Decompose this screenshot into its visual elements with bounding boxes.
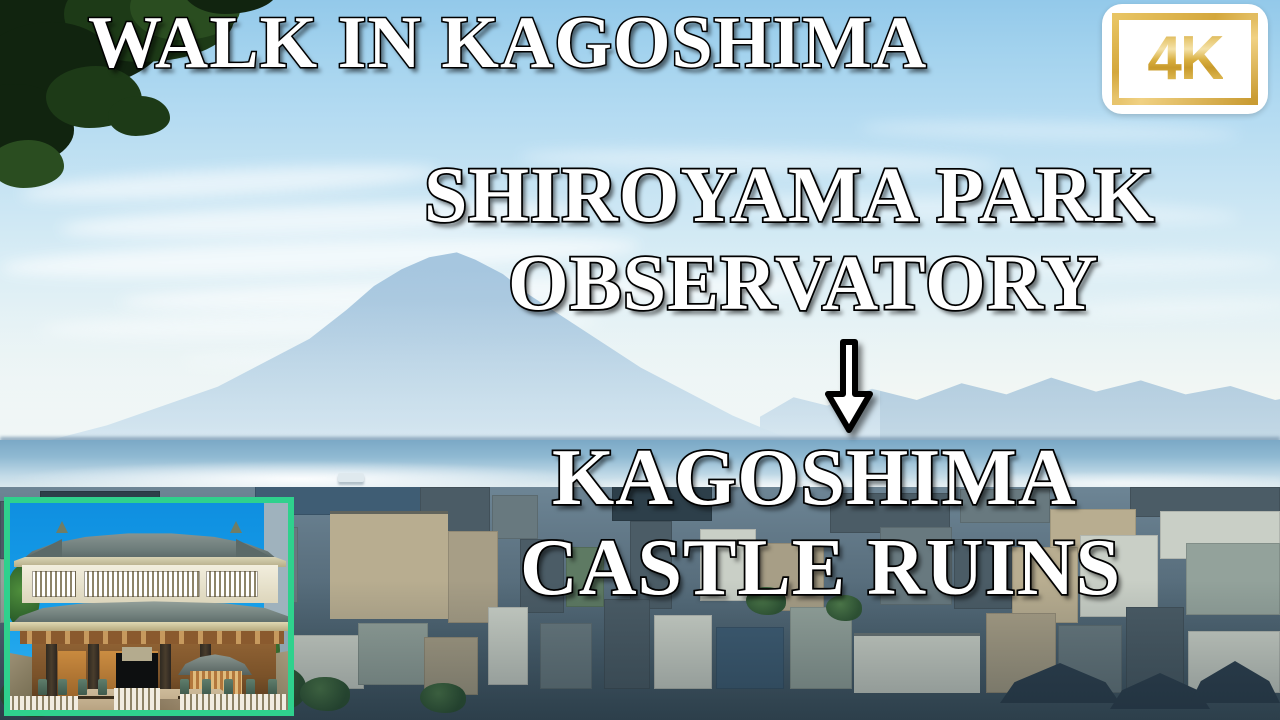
lantern [58, 679, 67, 695]
video-thumbnail: WALK IN KAGOSHIMA SHIROYAMA PARK OBSERVA… [0, 0, 1280, 720]
subtitle-line-1: SHIROYAMA PARK [424, 156, 1155, 234]
tree [420, 683, 466, 713]
lantern [246, 679, 255, 695]
building [540, 623, 592, 689]
wooden-fence [180, 694, 290, 712]
ferry-boat [338, 473, 364, 482]
badge-label: 4K [1147, 28, 1222, 90]
inset-photo-castle-gate [4, 497, 294, 716]
building [790, 607, 852, 689]
gate-entrance-lintel [122, 647, 152, 661]
building [1160, 511, 1280, 559]
destination-line-2: CASTLE RUINS [520, 528, 1121, 608]
temple-roof [1110, 673, 1210, 709]
building [488, 607, 528, 685]
building [1188, 631, 1280, 693]
building [654, 615, 712, 689]
building [986, 613, 1056, 693]
building [420, 487, 490, 539]
lantern [202, 679, 211, 695]
wooden-fence [8, 696, 78, 712]
lantern [224, 679, 233, 695]
building [604, 599, 650, 689]
building [424, 637, 478, 695]
lantern [268, 679, 277, 695]
building [358, 623, 428, 685]
subtitle-line-2: OBSERVATORY [508, 244, 1099, 322]
wooden-fence [114, 688, 160, 710]
main-roof-eave [6, 622, 294, 631]
temple-roof [1190, 661, 1280, 703]
building [1130, 487, 1280, 517]
roof-bracket-row [20, 631, 284, 644]
building [1186, 543, 1280, 615]
temple-roof [1000, 663, 1120, 703]
arrow-down-icon [822, 338, 876, 434]
lantern [38, 679, 47, 695]
tree [300, 677, 350, 711]
quality-badge-4k: 4K [1102, 4, 1268, 114]
lattice-window [32, 571, 76, 597]
building [854, 633, 980, 693]
building [1058, 625, 1122, 693]
lantern [180, 679, 189, 695]
lattice-window [84, 571, 200, 597]
building-large [330, 511, 448, 619]
destination-line-1: KAGOSHIMA [552, 438, 1077, 518]
lantern [78, 679, 87, 695]
lattice-window [206, 571, 258, 597]
series-title: WALK IN KAGOSHIMA [88, 6, 927, 80]
lantern [98, 679, 107, 695]
building [716, 627, 784, 689]
building [448, 531, 498, 623]
building [1126, 607, 1184, 693]
